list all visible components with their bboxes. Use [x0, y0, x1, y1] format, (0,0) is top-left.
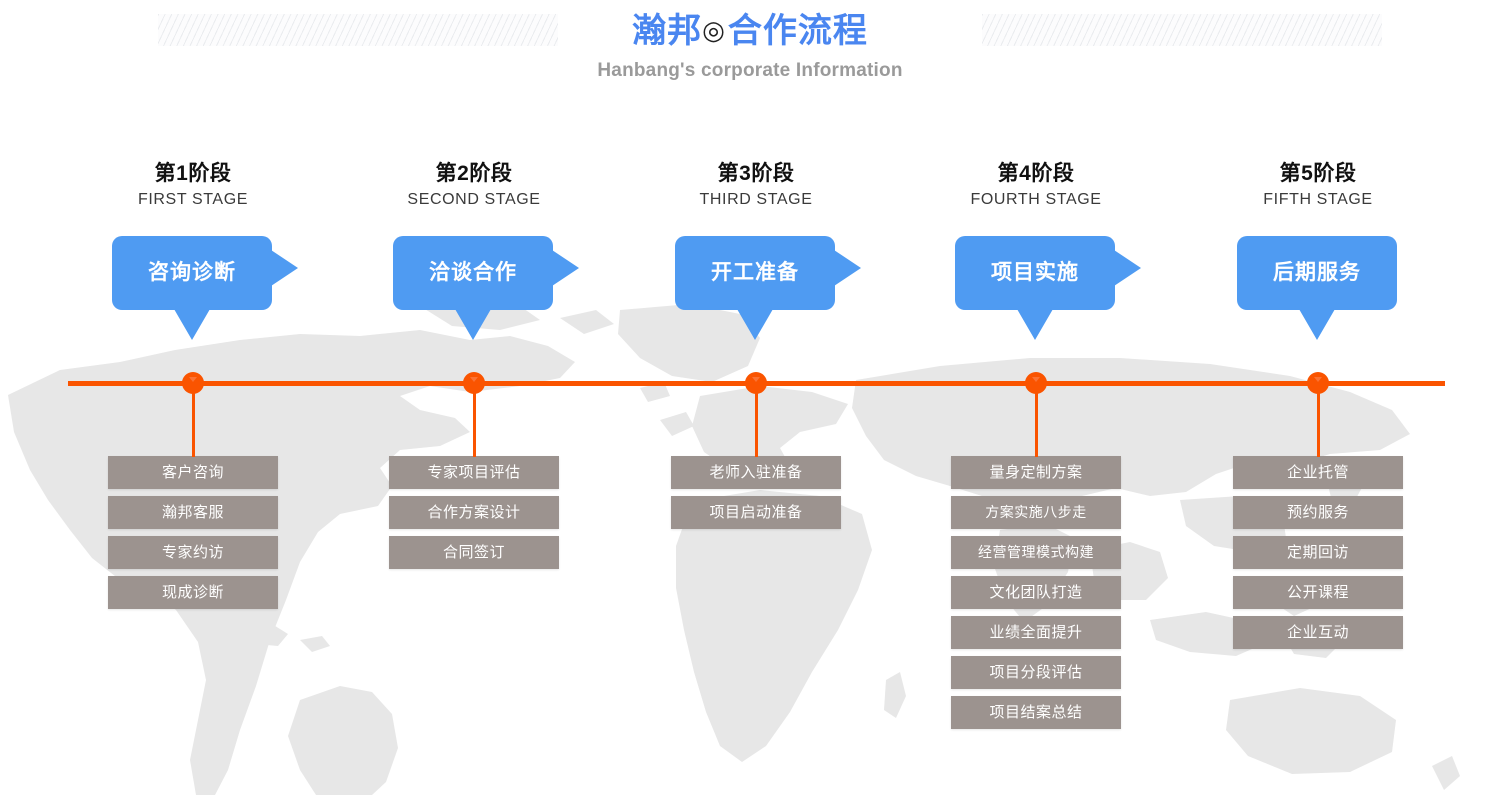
stage-title-cn: 第5阶段 [1168, 160, 1468, 188]
stage-title-en: FOURTH STAGE [886, 188, 1186, 212]
title-suffix-cn: 合作流程 [728, 12, 868, 50]
stage-item-list-3: 老师入驻准备项目启动准备 [671, 456, 841, 536]
stage-item[interactable]: 项目结案总结 [951, 696, 1121, 729]
stage-item-list-2: 专家项目评估合作方案设计合同签订 [389, 456, 559, 576]
stage-bubble-2[interactable]: 洽谈合作 [393, 236, 553, 310]
stage-item-list-1: 客户咨询瀚邦客服专家约访现成诊断 [108, 456, 278, 616]
stage-item[interactable]: 项目分段评估 [951, 656, 1121, 689]
stage-bubble-1[interactable]: 咨询诊断 [112, 236, 272, 310]
stage-item[interactable]: 企业托管 [1233, 456, 1403, 489]
stage-heading-1: 第1阶段FIRST STAGE [43, 160, 343, 212]
arrow-right-icon [834, 250, 861, 286]
arrow-right-icon [552, 250, 579, 286]
stage-title-cn: 第2阶段 [324, 160, 624, 188]
stage-item[interactable]: 文化团队打造 [951, 576, 1121, 609]
stage-item-list-5: 企业托管预约服务定期回访公开课程企业互动 [1233, 456, 1403, 656]
stage-heading-2: 第2阶段SECOND STAGE [324, 160, 624, 212]
stage-title-cn: 第1阶段 [43, 160, 343, 188]
timeline-node-stem [1317, 383, 1320, 457]
stage-item[interactable]: 方案实施八步走 [951, 496, 1121, 529]
stage-item[interactable]: 瀚邦客服 [108, 496, 278, 529]
stage-title-cn: 第4阶段 [886, 160, 1186, 188]
stage-item[interactable]: 现成诊断 [108, 576, 278, 609]
stage-item[interactable]: 企业互动 [1233, 616, 1403, 649]
stage-title-en: FIFTH STAGE [1168, 188, 1468, 212]
stage-title-en: FIRST STAGE [43, 188, 343, 212]
stage-bubble-3[interactable]: 开工准备 [675, 236, 835, 310]
stage-bubble-label: 后期服务 [1273, 261, 1361, 284]
stage-heading-4: 第4阶段FOURTH STAGE [886, 160, 1186, 212]
timeline-node-stem [473, 383, 476, 457]
stage-bubble-4[interactable]: 项目实施 [955, 236, 1115, 310]
bubble-tail-icon [1017, 309, 1053, 340]
stage-item[interactable]: 合同签订 [389, 536, 559, 569]
stage-bubble-label: 洽谈合作 [429, 261, 517, 284]
stage-bubble-label: 咨询诊断 [148, 261, 236, 284]
page-header: 瀚邦◎合作流程 Hanbang's corporate Information [0, 0, 1500, 110]
timeline-node-stem [755, 383, 758, 457]
stage-item[interactable]: 老师入驻准备 [671, 456, 841, 489]
stage-item[interactable]: 预约服务 [1233, 496, 1403, 529]
bubble-tail-icon [737, 309, 773, 340]
timeline-node-stem [1035, 383, 1038, 457]
stage-item[interactable]: 量身定制方案 [951, 456, 1121, 489]
stage-item[interactable]: 经营管理模式构建 [951, 536, 1121, 569]
stage-heading-3: 第3阶段THIRD STAGE [606, 160, 906, 212]
stage-item[interactable]: 合作方案设计 [389, 496, 559, 529]
stage-bubble-5[interactable]: 后期服务 [1237, 236, 1397, 310]
stage-item-list-4: 量身定制方案方案实施八步走经营管理模式构建文化团队打造业绩全面提升项目分段评估项… [951, 456, 1121, 736]
page-subtitle: Hanbang's corporate Information [0, 60, 1500, 82]
bubble-tail-icon [174, 309, 210, 340]
arrow-right-icon [1114, 250, 1141, 286]
stage-item[interactable]: 定期回访 [1233, 536, 1403, 569]
stage-bubble-label: 开工准备 [711, 261, 799, 284]
stage-bubble-label: 项目实施 [991, 261, 1079, 284]
logo-mark-icon: ◎ [702, 8, 726, 52]
page-title: 瀚邦◎合作流程 [0, 8, 1500, 53]
stage-item[interactable]: 公开课程 [1233, 576, 1403, 609]
stage-item[interactable]: 专家项目评估 [389, 456, 559, 489]
stage-title-cn: 第3阶段 [606, 160, 906, 188]
stage-title-en: SECOND STAGE [324, 188, 624, 212]
stage-item[interactable]: 业绩全面提升 [951, 616, 1121, 649]
brand-name-cn: 瀚邦 [632, 12, 702, 50]
infographic-canvas: 瀚邦◎合作流程 Hanbang's corporate Information … [0, 0, 1500, 795]
timeline-node-stem [192, 383, 195, 457]
bubble-tail-icon [455, 309, 491, 340]
stage-item[interactable]: 项目启动准备 [671, 496, 841, 529]
stage-item[interactable]: 客户咨询 [108, 456, 278, 489]
arrow-right-icon [271, 250, 298, 286]
stage-title-en: THIRD STAGE [606, 188, 906, 212]
stage-heading-5: 第5阶段FIFTH STAGE [1168, 160, 1468, 212]
stage-item[interactable]: 专家约访 [108, 536, 278, 569]
bubble-tail-icon [1299, 309, 1335, 340]
